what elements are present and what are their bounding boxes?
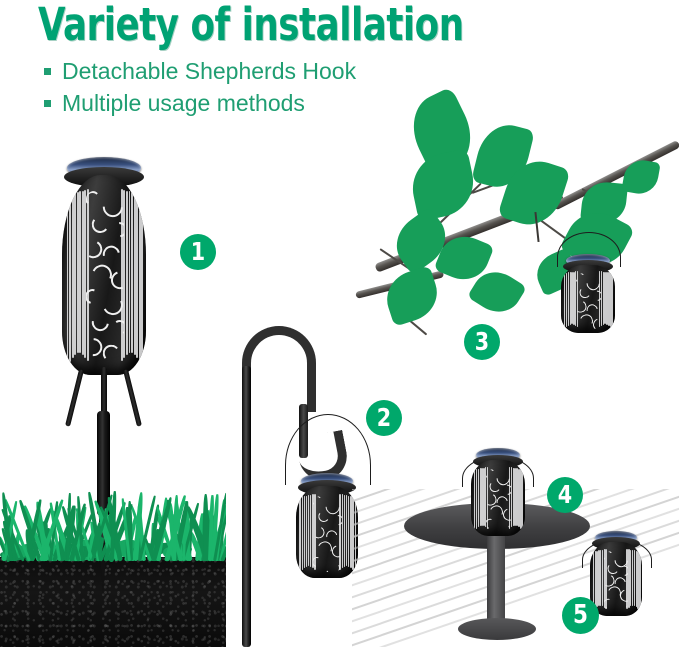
lamp-filigree-curl	[108, 219, 124, 240]
lamp-slit	[302, 496, 303, 570]
badge-3-tree-branch: 3	[464, 324, 500, 360]
feature-bullet-1-label: Detachable Shepherds Hook	[62, 58, 356, 85]
grass-patch	[0, 489, 226, 561]
badge-2-shepherds-hook: 2	[366, 400, 402, 436]
lamp-filigree-curl	[91, 215, 110, 234]
lamp-slit	[602, 550, 603, 607]
lamp-slit	[74, 193, 76, 355]
lamp-filigree-curl	[330, 513, 342, 527]
lamp-filigree-curl	[86, 287, 103, 308]
lamp-slit	[344, 495, 345, 567]
hook-arc	[242, 326, 316, 412]
lamp-slit	[634, 550, 635, 606]
lamp-filigree-curl	[317, 511, 330, 524]
lamp-filigree-curl	[86, 238, 104, 260]
lamp-slit	[612, 273, 613, 329]
lamp-slit	[139, 194, 141, 362]
feature-bullet-2: Multiple usage methods	[44, 90, 305, 117]
lamp-filigree-curl	[313, 525, 326, 540]
lamp-filigree-curl	[576, 273, 585, 283]
lamp-filigree-curl	[607, 562, 619, 574]
badge-1-ground-stake: 1	[180, 234, 216, 270]
lamp-slit	[136, 194, 138, 358]
lamp-filigree-curl	[330, 543, 342, 560]
lamp-slit	[476, 469, 477, 529]
lamp-prong-left	[65, 369, 84, 426]
lamp-slit	[348, 496, 349, 567]
lamp-shade-body	[471, 460, 525, 536]
lamp-shade-body	[590, 542, 642, 616]
lamp-slit	[131, 192, 133, 353]
lamp-slit	[478, 469, 479, 528]
lamp-filigree-curl	[496, 520, 511, 531]
lamp-filigree-curl	[486, 469, 495, 479]
lamp-filigree-curl	[490, 481, 502, 493]
tree-leaf	[621, 157, 660, 196]
bullet-square-icon	[44, 68, 51, 75]
lamp-shade-body	[296, 486, 358, 578]
lamp-slit	[304, 496, 305, 568]
lamp-filigree-curl	[324, 559, 341, 572]
lamp-filigree-curl	[100, 243, 123, 266]
lamp-slit	[129, 191, 131, 353]
lamp-filigree-curl	[313, 496, 322, 506]
lamp-slit	[126, 191, 128, 355]
lamp-slit	[134, 193, 136, 355]
hook-pole	[242, 366, 251, 647]
badge-5-deck-floor: 5	[562, 597, 599, 634]
lamp-slit	[639, 551, 640, 611]
table-stem	[487, 536, 505, 629]
lamp-scroll-pattern	[604, 551, 628, 611]
infographic-canvas: Variety of installation Detachable Sheph…	[0, 0, 679, 647]
lamp-filigree-curl	[604, 551, 613, 561]
page-title: Variety of installation	[38, 0, 464, 52]
lamp-scroll-pattern	[486, 469, 511, 531]
lamp-slit	[79, 191, 81, 353]
lamp-slit	[568, 272, 569, 325]
lamp-shade-body	[561, 265, 615, 333]
lamp-slit	[522, 469, 523, 531]
table-foot	[458, 618, 536, 640]
badge-4-table-top: 4	[547, 477, 583, 513]
lamp-filigree-curl	[86, 191, 100, 206]
lamp-filigree-curl	[580, 286, 592, 298]
lamp-filigree-curl	[313, 555, 324, 569]
lamp-filigree-curl	[316, 540, 334, 558]
bullet-square-icon	[44, 100, 51, 107]
lantern-on-table	[458, 446, 536, 540]
lamp-prong-right	[123, 369, 142, 426]
feature-bullet-2-label: Multiple usage methods	[62, 90, 305, 117]
lamp-shade-body	[62, 175, 146, 375]
lamp-filigree-curl	[103, 344, 121, 362]
lamp-slit	[306, 496, 307, 567]
lamp-slit	[566, 273, 567, 327]
tree-branch-scene	[386, 96, 679, 346]
lamp-slit	[346, 495, 347, 566]
lamp-filigree-curl	[110, 319, 124, 337]
lamp-scroll-pattern	[86, 191, 124, 363]
lamp-slit	[141, 195, 143, 367]
lamp-filigree-curl	[486, 517, 496, 530]
lamp-slit	[299, 497, 300, 573]
tree-leaf	[406, 148, 480, 222]
lamp-scroll-pattern	[313, 496, 342, 572]
feature-bullet-1: Detachable Shepherds Hook	[44, 58, 356, 85]
grass-blade	[203, 494, 208, 561]
lamp-scroll-pattern	[576, 273, 601, 329]
lantern-on-branch	[551, 232, 625, 334]
lamp-slit	[69, 194, 71, 362]
